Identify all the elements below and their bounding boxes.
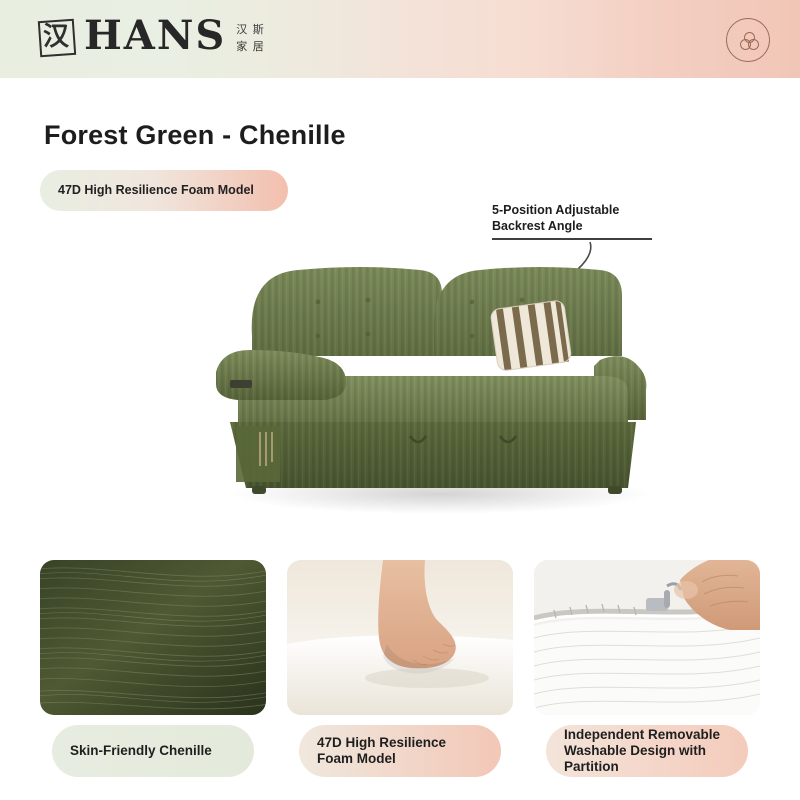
feature-card[interactable]: Skin-Friendly Chenille xyxy=(40,560,266,780)
card-label-washable: Independent Removable Washable Design wi… xyxy=(546,725,748,777)
card-label-chenille: Skin-Friendly Chenille xyxy=(52,725,254,777)
feature-card[interactable]: 47D High Resilience Foam Model xyxy=(287,560,513,780)
brand-name: HANS xyxy=(84,14,226,58)
sofa-foot xyxy=(252,486,266,494)
trefoil-icon xyxy=(726,18,770,62)
card-label-foam: 47D High Resilience Foam Model xyxy=(299,725,501,777)
brand-chinese-line-2: 家 居 xyxy=(236,40,265,53)
feature-cards: Skin-Friendly Chenille xyxy=(40,560,760,780)
sofa-base xyxy=(230,422,636,488)
page-header: 汉 HANS 汉 斯 家 居 xyxy=(0,0,800,78)
card-image-foam xyxy=(287,560,513,715)
sofa-foot xyxy=(608,486,622,494)
card-image-zipper xyxy=(534,560,760,715)
sofa-arm-left xyxy=(216,350,346,400)
product-image-sofa xyxy=(200,240,680,520)
brand-glyph: 汉 xyxy=(36,18,76,56)
brand-seal-icon: 汉 xyxy=(36,14,76,58)
page-title: Forest Green - Chenille xyxy=(44,120,346,151)
callout-backrest-text: 5-Position Adjustable Backrest Angle xyxy=(492,202,652,234)
arm-control-panel xyxy=(230,380,252,388)
striped-accent-pillow xyxy=(490,300,572,372)
brand-chinese-name: 汉 斯 家 居 xyxy=(234,19,265,53)
brand-logo: 汉 HANS 汉 斯 家 居 xyxy=(36,14,265,58)
card-image-chenille xyxy=(40,560,266,715)
badge-foam-model: 47D High Resilience Foam Model xyxy=(40,170,288,211)
feature-card[interactable]: Independent Removable Washable Design wi… xyxy=(534,560,760,780)
brand-chinese-line-1: 汉 斯 xyxy=(236,23,265,36)
